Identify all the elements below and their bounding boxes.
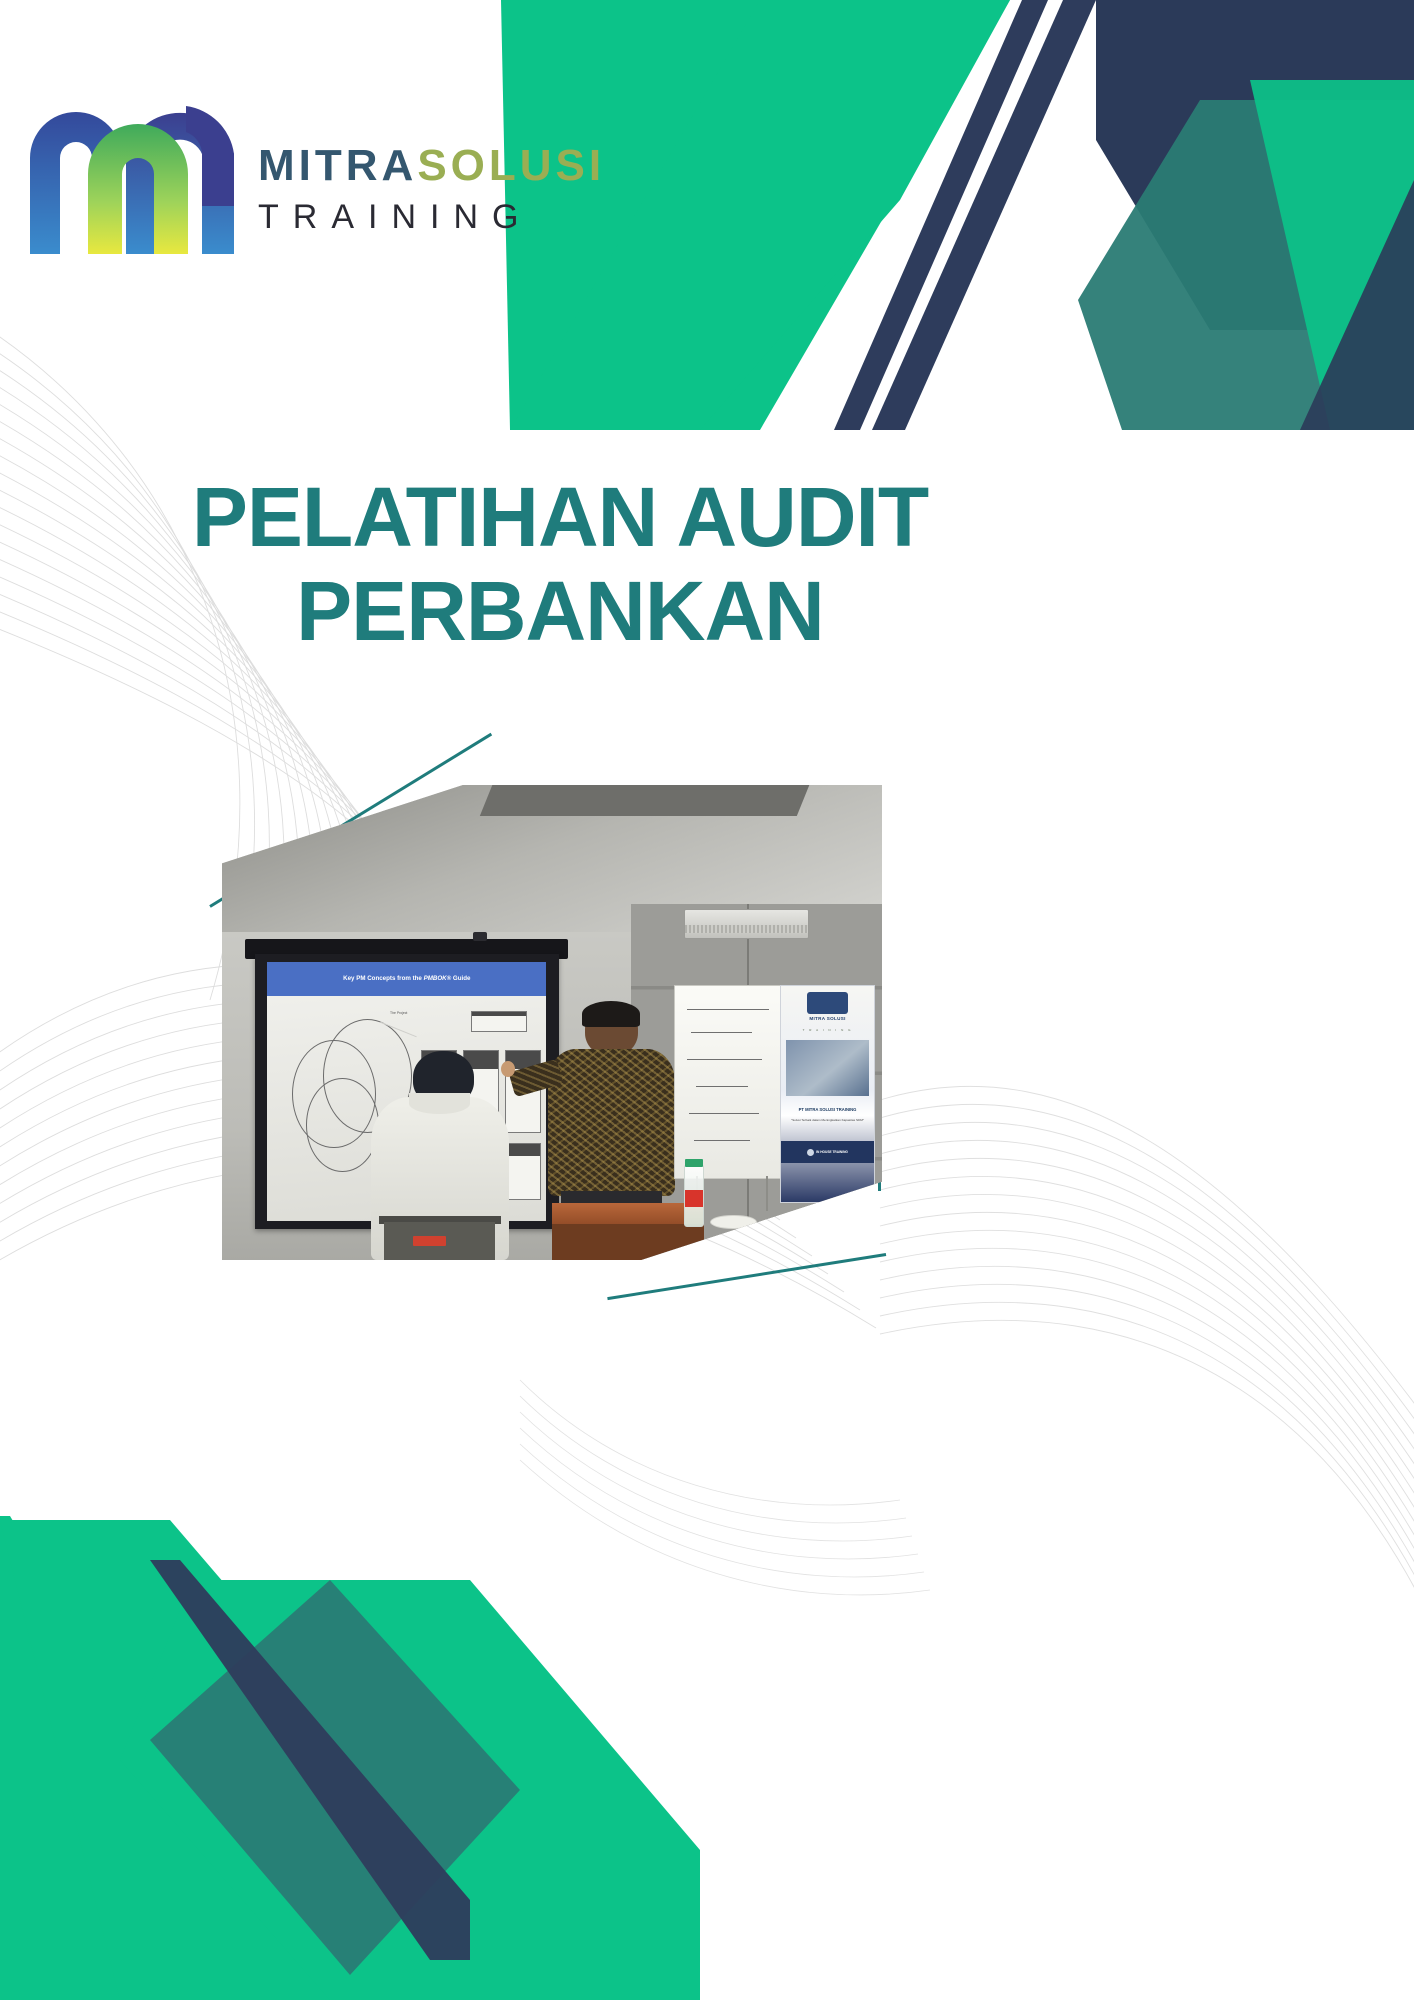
photo-participant-standing bbox=[371, 1051, 510, 1260]
photo-banner-company: PT MITRA SOLUSI TRAINING bbox=[781, 1107, 875, 1112]
photo-trainer-hair bbox=[582, 1001, 640, 1027]
photo-flipchart-line-2 bbox=[691, 1032, 752, 1033]
logo-word-solusi: SOLUSI bbox=[417, 141, 605, 190]
photo-flipchart-line-4 bbox=[696, 1086, 747, 1087]
photo-table-side bbox=[552, 1224, 704, 1260]
title-line-1: PELATIHAN AUDIT bbox=[192, 470, 928, 564]
photo-banner-footer-text: IN HOUSE TRAINING bbox=[816, 1150, 848, 1154]
logo-wordmark: MITRASOLUSI TRAINING bbox=[258, 144, 598, 234]
photo-banner-logo-icon bbox=[807, 992, 848, 1014]
brand-logo: MITRASOLUSI TRAINING bbox=[26, 96, 586, 266]
photo-flipchart-line-3 bbox=[687, 1059, 762, 1060]
photo-flipchart-line-5 bbox=[689, 1113, 759, 1114]
photo-flipchart-line-1 bbox=[687, 1009, 769, 1010]
brochure-cover-page: MITRASOLUSI TRAINING PELATIHAN AUDIT PER… bbox=[0, 0, 1414, 2000]
photo-slide-header: Key PM Concepts from the PMBOK® Guide bbox=[267, 962, 546, 996]
photo-flipchart-line-6 bbox=[694, 1140, 750, 1141]
photo-bottle-label bbox=[685, 1190, 703, 1207]
photo-banner-tagline: "Solusi Terbaik dalam Meningkatkan Kapas… bbox=[786, 1118, 868, 1122]
photo-air-conditioner bbox=[684, 909, 809, 940]
photo-slide-ring-3 bbox=[306, 1078, 379, 1171]
photo-slide-lead-text: The Project bbox=[390, 1011, 407, 1015]
photo-banner-brand-sub: T R A I N I N G bbox=[781, 1028, 875, 1032]
title-line-2: PERBANKAN bbox=[0, 564, 1120, 658]
logo-word-mitra: MITRA bbox=[258, 141, 417, 190]
photo-banner-inner-photo bbox=[786, 1040, 868, 1096]
photo-banner-footer-icon bbox=[807, 1149, 814, 1156]
photo-slide-title: Key PM Concepts from the PMBOK® Guide bbox=[343, 975, 470, 982]
photo-water-bottle bbox=[684, 1165, 704, 1227]
photo-slide-box-top bbox=[471, 1011, 527, 1032]
photo-banner-footer-bar: IN HOUSE TRAINING bbox=[781, 1141, 875, 1163]
photo-projector-icon bbox=[473, 932, 487, 941]
page-title: PELATIHAN AUDIT PERBANKAN bbox=[0, 470, 1120, 658]
logo-word-training: TRAINING bbox=[258, 200, 598, 234]
photo-flipchart-leg-right bbox=[766, 1176, 768, 1211]
photo-rollup-banner: MITRA SOLUSI T R A I N I N G PT MITRA SO… bbox=[780, 985, 876, 1204]
photo-trainer-batik-shirt bbox=[548, 1049, 675, 1196]
training-photo-frame: Key PM Concepts from the PMBOK® Guide Th… bbox=[222, 785, 882, 1260]
photo-ac-vent bbox=[685, 925, 808, 933]
photo-table-top bbox=[552, 1203, 704, 1227]
photo-flipchart bbox=[674, 985, 793, 1180]
photo-ceiling-recess bbox=[480, 785, 809, 816]
training-photo-clip: Key PM Concepts from the PMBOK® Guide Th… bbox=[222, 785, 882, 1260]
photo-banner-brand: MITRA SOLUSI bbox=[781, 1016, 875, 1021]
photo-marker-pen bbox=[413, 1236, 446, 1246]
photo-participant-collar bbox=[409, 1093, 470, 1114]
photo-slide-box-6 bbox=[505, 1143, 541, 1200]
photo-trainer-hand bbox=[501, 1061, 516, 1078]
mitra-solusi-m-monogram-icon bbox=[26, 96, 238, 256]
training-photo-image: Key PM Concepts from the PMBOK® Guide Th… bbox=[222, 785, 882, 1260]
photo-bottle-cap bbox=[685, 1159, 703, 1167]
photo-saucer bbox=[710, 1215, 756, 1229]
